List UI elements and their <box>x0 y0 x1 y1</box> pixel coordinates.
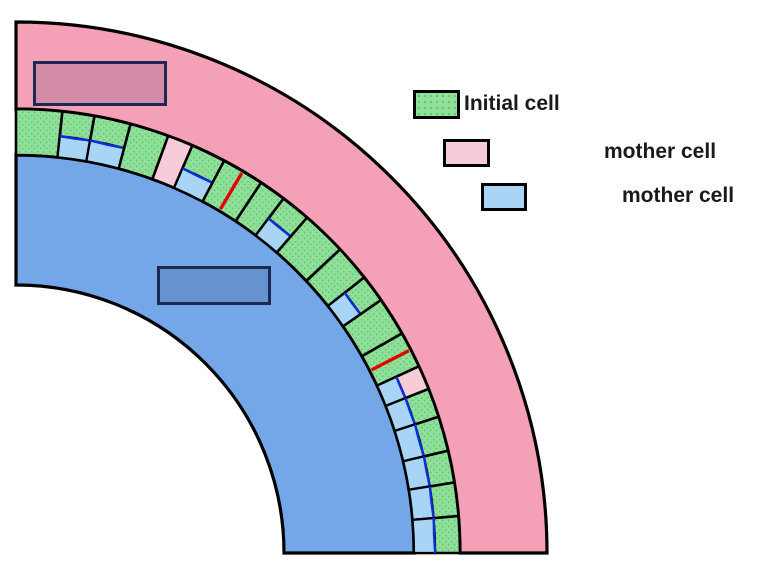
cell-daughter-blue <box>413 518 436 553</box>
legend-label-initial-cell: Initial cell <box>464 92 560 116</box>
figure-canvas: Initial cell mother cell mother cell <box>0 0 777 576</box>
legend-label-mother-cell-blue: mother cell <box>622 184 734 208</box>
legend-swatch-initial-cell <box>413 90 460 119</box>
legend-swatch-mother-cell-pink <box>443 139 490 167</box>
meristem-annulus-diagram <box>0 0 777 576</box>
legend-label-mother-cell-pink: mother cell <box>604 140 716 164</box>
cell-19-initial[interactable] <box>413 516 460 553</box>
cell-0-initial[interactable] <box>16 109 62 157</box>
cell-18-initial[interactable] <box>409 483 459 520</box>
legend-swatch-mother-cell-blue <box>481 183 527 211</box>
cell-body <box>16 109 62 157</box>
